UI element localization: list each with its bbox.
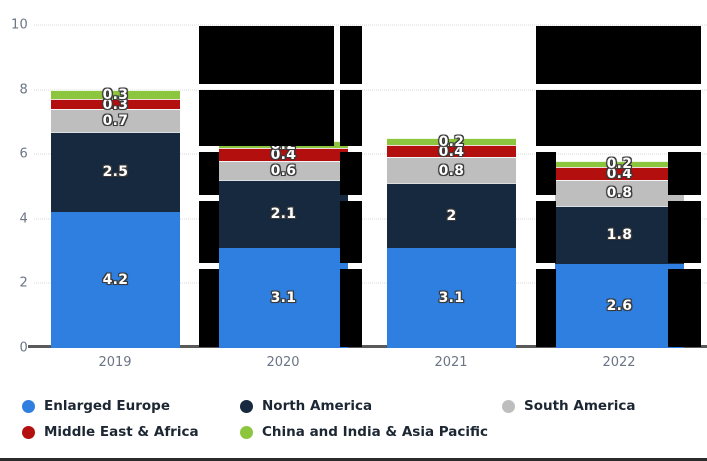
segment-2019-north-america[interactable]: 2.5 [51,132,180,213]
x-axis-tick-2019: 2019 [98,355,131,370]
segment-value-label: 3.1 [271,291,297,305]
legend-item-china-india-asia-pacific[interactable]: China and India & Asia Pacific [240,424,502,440]
y-axis-tick-10: 10 [0,18,34,33]
x-axis-tick-2021: 2021 [434,355,467,370]
legend-swatch-icon [502,400,515,413]
stacked-bar-chart: 10 8 6 4 2 0 4.2 2.5 0.7 0.3 [0,0,707,461]
segment-2019-china-india-asia-pacific[interactable]: 0.3 [51,90,180,100]
legend-swatch-icon [22,426,35,439]
y-axis-tick-4: 4 [0,211,34,226]
segment-2022-enlarged-europe[interactable]: 2.6 [555,264,684,348]
legend-swatch-icon [22,400,35,413]
plot-area: 10 8 6 4 2 0 4.2 2.5 0.7 0.3 [34,25,707,348]
y-axis-tick-2: 2 [0,276,34,291]
legend-label: South America [524,398,635,414]
legend-item-south-america[interactable]: South America [502,398,635,414]
legend-item-enlarged-europe[interactable]: Enlarged Europe [22,398,240,414]
segment-value-label: 0.7 [103,114,129,128]
segment-value-label: 2.1 [271,207,297,221]
legend-row-1: Enlarged Europe North America South Amer… [22,398,702,414]
segment-2020-enlarged-europe[interactable]: 3.1 [219,248,348,348]
legend-swatch-icon [240,400,253,413]
y-axis-tick-8: 8 [0,82,34,97]
segment-2021-china-india-asia-pacific[interactable]: 0.2 [387,138,516,144]
segment-value-label: 0.2 [271,138,297,152]
segment-2021-south-america[interactable]: 0.8 [387,157,516,183]
bar-group-2019[interactable]: 4.2 2.5 0.7 0.3 0.3 [51,90,180,348]
x-axis-tick-2022: 2022 [602,355,635,370]
segment-2020-south-america[interactable]: 0.6 [219,161,348,180]
segment-2022-china-india-asia-pacific[interactable]: 0.2 [555,161,684,167]
legend-row-2: Middle East & Africa China and India & A… [22,424,702,440]
y-axis-tick-6: 6 [0,147,34,162]
x-axis-labels: 2019 2020 2021 2022 [34,349,707,375]
legend-label: Enlarged Europe [44,398,170,414]
bar-group-2021[interactable]: 3.1 2 0.8 0.4 0.2 [387,138,516,348]
segment-value-label: 2.6 [607,299,633,313]
segment-2020-north-america[interactable]: 2.1 [219,180,348,248]
x-axis-tick-2020: 2020 [266,355,299,370]
legend-item-middle-east-africa[interactable]: Middle East & Africa [22,424,240,440]
segment-value-label: 4.2 [103,273,129,287]
segment-2022-north-america[interactable]: 1.8 [555,206,684,264]
y-axis-tick-0: 0 [0,341,34,356]
segment-value-label: 2.5 [103,165,129,179]
chart-legend: Enlarged Europe North America South Amer… [0,388,707,448]
segment-2021-north-america[interactable]: 2 [387,183,516,248]
segment-2019-enlarged-europe[interactable]: 4.2 [51,212,180,348]
bar-group-2022[interactable]: 2.6 1.8 0.8 0.4 0.2 [555,161,684,348]
segment-2022-south-america[interactable]: 0.8 [555,180,684,206]
segment-value-label: 2 [446,209,456,223]
segment-value-label: 3.1 [439,291,465,305]
segment-value-label: 0.2 [607,157,633,171]
segment-value-label: 0.8 [607,186,633,200]
legend-label: North America [262,398,372,414]
segment-value-label: 0.2 [439,135,465,149]
segment-2021-enlarged-europe[interactable]: 3.1 [387,248,516,348]
segment-value-label: 0.3 [103,88,129,102]
legend-item-north-america[interactable]: North America [240,398,502,414]
legend-label: China and India & Asia Pacific [262,424,488,440]
bars-container: 4.2 2.5 0.7 0.3 0.3 3.1 [34,25,707,348]
segment-value-label: 0.8 [439,164,465,178]
bar-group-2020[interactable]: 3.1 2.1 0.6 0.4 0.2 [219,141,348,348]
segment-value-label: 1.8 [607,228,633,242]
legend-label: Middle East & Africa [44,424,199,440]
segment-2020-china-india-asia-pacific[interactable]: 0.2 [219,141,348,147]
segment-value-label: 0.6 [271,164,297,178]
legend-swatch-icon [240,426,253,439]
